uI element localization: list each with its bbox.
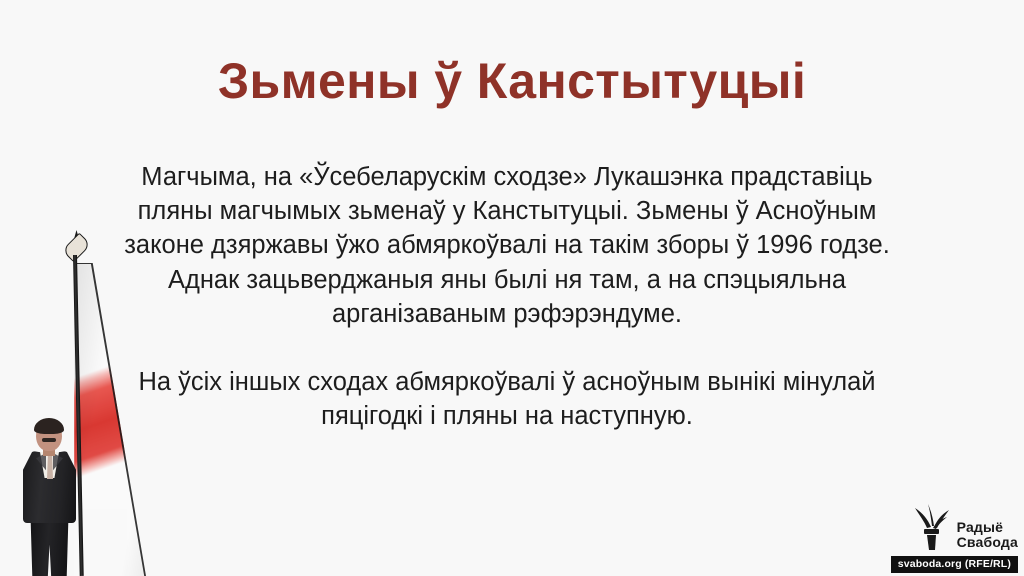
logo-wordmark: Радыё Свабода [957,520,1018,552]
flag-and-figure-illustration [0,235,146,576]
figure-mustache [42,438,56,442]
source-url-bar: svaboda.org (RFE/RL) [891,556,1018,573]
figure-hair [34,418,64,434]
paragraph-1: Магчыма, на «Ўсебеларускім сходзе» Лукаш… [112,160,902,331]
flag-shading [74,263,146,576]
logo-line-2: Свабода [957,535,1018,550]
paragraph-2: На ўсіх іншых сходах абмяркоўвалі ў асно… [112,365,902,433]
logo-line-1: Радыё [957,520,1018,535]
radio-svaboda-logo: Радыё Свабода [911,504,1018,552]
body-text-block: Магчыма, на «Ўсебеларускім сходзе» Лукаш… [112,160,902,433]
slide-canvas: Зьмены ў Канстытуцыі Магчыма, на «Ўсебел… [0,0,1024,576]
man-in-dark-suit [18,420,80,576]
figure-legs [29,520,70,576]
page-title: Зьмены ў Канстытуцыі [0,55,1024,108]
torch-icon [911,504,951,552]
figure-tie [47,456,53,479]
